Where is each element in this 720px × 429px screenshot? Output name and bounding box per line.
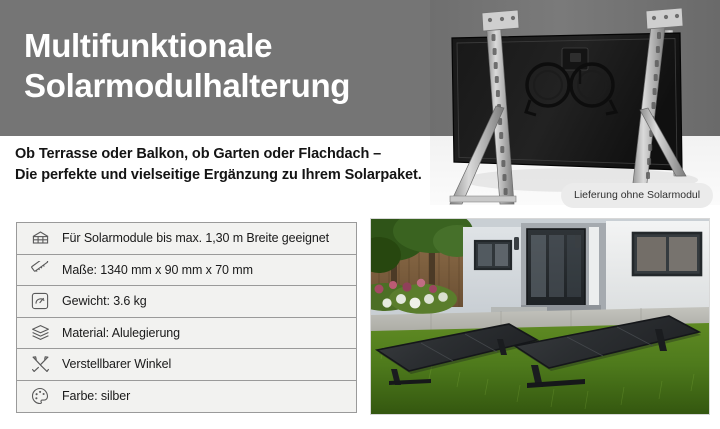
page-title: Multifunktionale Solarmodulhalterung (24, 26, 454, 106)
ruler-icon (27, 259, 53, 281)
feature-row-dimensions: Maße: 1340 mm x 90 mm x 70 mm (17, 255, 356, 287)
subheading: Ob Terrasse oder Balkon, ob Garten oder … (15, 144, 445, 186)
solar-panel-icon (27, 227, 53, 249)
product-hero-image (430, 0, 720, 205)
feature-label: Verstellbarer Winkel (62, 357, 171, 371)
feature-label: Maße: 1340 mm x 90 mm x 70 mm (62, 263, 253, 277)
subheading-line-1: Ob Terrasse oder Balkon, ob Garten oder … (15, 144, 445, 165)
weight-gauge-icon (27, 290, 53, 312)
tools-icon (27, 353, 53, 375)
feature-row-panel-width: Für Solarmodule bis max. 1,30 m Breite g… (17, 223, 356, 255)
feature-row-adjustable-angle: Verstellbarer Winkel (17, 349, 356, 381)
delivery-note-badge: Lieferung ohne Solarmodul (561, 183, 713, 208)
layers-icon (27, 322, 53, 344)
feature-row-material: Material: Alulegierung (17, 318, 356, 350)
lifestyle-photo (370, 218, 710, 415)
headline-line-1: Multifunktionale (24, 27, 272, 64)
feature-label: Gewicht: 3.6 kg (62, 294, 147, 308)
headline-line-2: Solarmodulhalterung (24, 66, 454, 106)
feature-label: Farbe: silber (62, 389, 130, 403)
product-infographic: Multifunktionale Solarmodulhalterung (0, 0, 720, 429)
feature-list: Für Solarmodule bis max. 1,30 m Breite g… (16, 222, 357, 413)
feature-label: Material: Alulegierung (62, 326, 180, 340)
feature-label: Für Solarmodule bis max. 1,30 m Breite g… (62, 231, 329, 245)
feature-row-weight: Gewicht: 3.6 kg (17, 286, 356, 318)
palette-icon (27, 385, 53, 407)
feature-row-color: Farbe: silber (17, 381, 356, 413)
subheading-line-2: Die perfekte und vielseitige Ergänzung z… (15, 165, 445, 186)
